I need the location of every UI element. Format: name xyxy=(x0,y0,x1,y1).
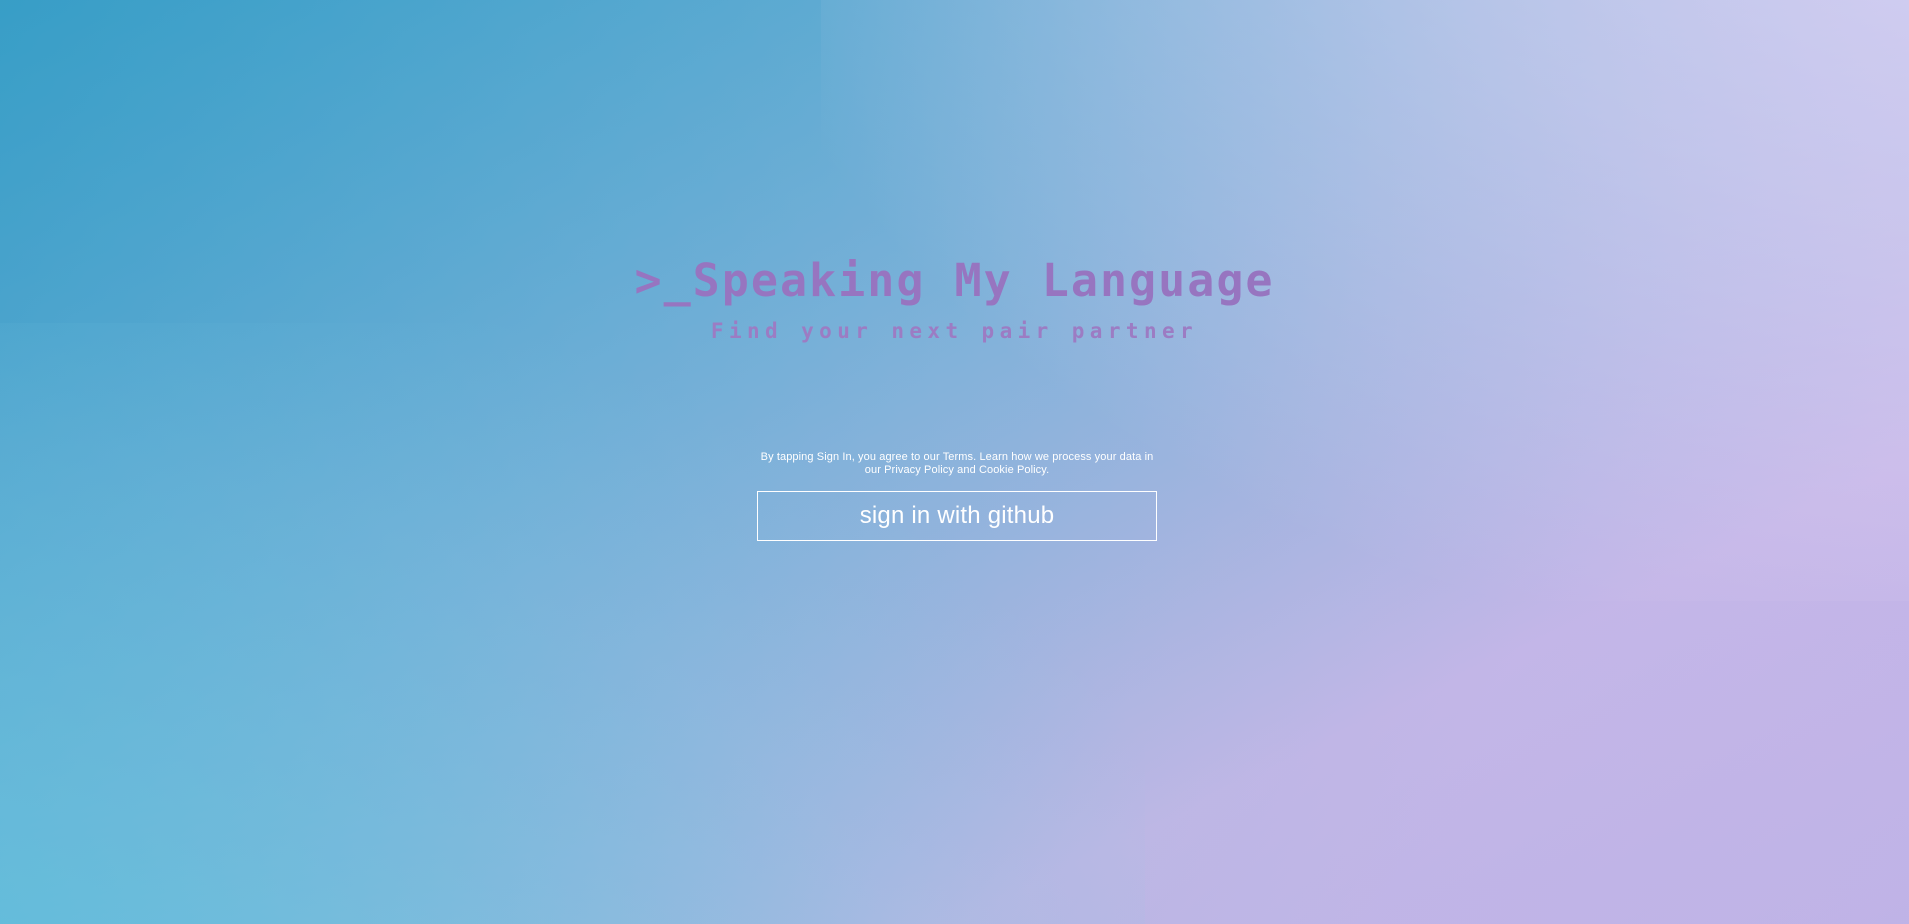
auth-section: By tapping Sign In, you agree to our Ter… xyxy=(757,451,1157,541)
page-title: >_Speaking My Language xyxy=(0,258,1909,303)
legal-disclaimer: By tapping Sign In, you agree to our Ter… xyxy=(757,451,1157,477)
sign-in-with-github-button[interactable]: sign in with github xyxy=(757,491,1157,541)
hero-section: >_Speaking My Language Find your next pa… xyxy=(0,258,1909,342)
landing-page: >_Speaking My Language Find your next pa… xyxy=(0,0,1909,924)
page-subtitle: Find your next pair partner xyxy=(0,303,1909,342)
